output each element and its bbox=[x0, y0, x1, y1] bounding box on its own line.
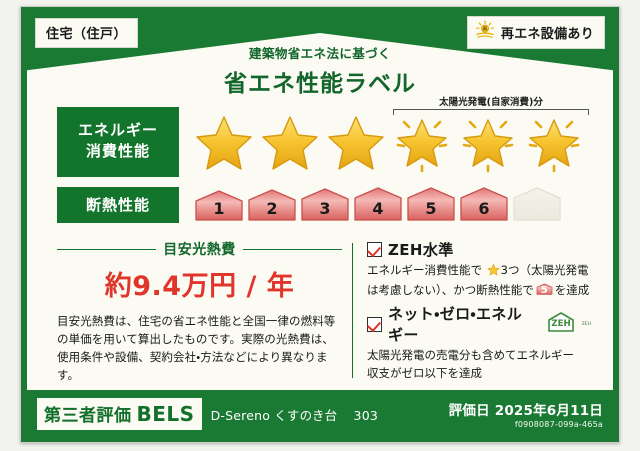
grade-number: 6 bbox=[458, 199, 510, 218]
zeh-standard-header: ZEH水準 bbox=[367, 239, 591, 260]
insulation-grade-tile: 3 bbox=[299, 187, 351, 223]
column-divider bbox=[352, 243, 353, 378]
title-main: 省エネ性能ラベル bbox=[21, 64, 619, 98]
heading-rule-left bbox=[57, 249, 156, 250]
star-filled bbox=[325, 111, 387, 173]
grade-number: 2 bbox=[246, 199, 298, 218]
bels-logo-text: BELS bbox=[137, 402, 195, 426]
energy-performance-row: エネルギー 消費性能 太陽光発電(自家消費)分 bbox=[57, 107, 591, 177]
svg-text:ZEH: ZEH bbox=[551, 319, 570, 329]
checkbox-checked-icon bbox=[367, 242, 382, 257]
building-name: D-Sereno くすのき台 303 bbox=[211, 405, 378, 424]
insulation-grade-tile: 2 bbox=[246, 187, 298, 223]
inline-grade-number: 5 bbox=[536, 284, 553, 297]
energy-performance-label: エネルギー 消費性能 bbox=[57, 107, 179, 177]
zeh-standard-description: エネルギー消費性能で 3つ（太陽光発電 は考慮しない）、かつ断熱性能で 5 を達… bbox=[367, 261, 591, 299]
certification-column: ZEH水準 エネルギー消費性能で 3つ（太陽光発電 は考慮しない）、かつ断熱性能… bbox=[363, 239, 591, 386]
insulation-grade-tile-inactive: 7 bbox=[511, 187, 563, 223]
inline-grade-badge: 5 bbox=[536, 282, 553, 297]
stars-container: 太陽光発電(自家消費)分 bbox=[193, 111, 591, 173]
energy-label-line1: エネルギー bbox=[57, 120, 179, 141]
grade-number: 1 bbox=[193, 199, 245, 218]
heading-rule-right bbox=[243, 249, 342, 250]
evaluation-info: 評価日 2025年6月11日 f0908087-099a-465a bbox=[449, 399, 603, 429]
star-filled-solar bbox=[391, 111, 453, 173]
unit-number: 303 bbox=[354, 408, 378, 423]
zeh-logo-icon: ZEH bbox=[546, 311, 576, 337]
checkbox-checked-icon bbox=[367, 317, 382, 332]
zeh-desc-part2: は考慮しない）、かつ断熱性能で bbox=[367, 283, 534, 297]
insulation-grade-tile: 6 bbox=[458, 187, 510, 223]
zeh-logo-caption: ZEH bbox=[582, 322, 591, 327]
energy-cost-column: 目安光熱費 約9.4万円 / 年 目安光熱費は、住宅の省エネ性能と全国一律の燃料… bbox=[57, 239, 342, 386]
net-zero-description: 太陽光発電の売電分も含めてエネルギー 収支がゼロ以下を達成 bbox=[367, 346, 591, 382]
zeh-desc-part3: を達成 bbox=[555, 283, 590, 297]
label-title-block: 建築物省エネ法に基づく 省エネ性能ラベル bbox=[21, 43, 619, 98]
grade-number: 5 bbox=[405, 199, 457, 218]
evaluation-code: f0908087-099a-465a bbox=[449, 420, 603, 429]
net-zero-desc-line1: 太陽光発電の売電分も含めてエネルギー bbox=[367, 348, 574, 362]
star-filled-solar bbox=[457, 111, 519, 173]
energy-label-line2: 消費性能 bbox=[57, 141, 179, 162]
energy-cost-value: 約9.4万円 / 年 bbox=[57, 264, 342, 303]
star-filled bbox=[193, 111, 255, 173]
insulation-performance-row: 断熱性能 bbox=[57, 177, 591, 223]
bels-japanese-label: 第三者評価 bbox=[44, 401, 132, 426]
insulation-grade-tile: 4 bbox=[352, 187, 404, 223]
insulation-grade-scale: 1 2 3 4 bbox=[193, 187, 563, 223]
lower-section: 目安光熱費 約9.4万円 / 年 目安光熱費は、住宅の省エネ性能と全国一律の燃料… bbox=[57, 239, 591, 386]
net-zero-title: ネット・ゼロ・エネルギー bbox=[388, 303, 537, 345]
dwelling-type-tag: 住宅（住戸） bbox=[35, 18, 138, 48]
building-name-text: D-Sereno くすのき台 bbox=[211, 408, 338, 423]
star-filled bbox=[259, 111, 321, 173]
net-zero-energy-item: ネット・ゼロ・エネルギー ZEH ZEH 太陽光発電の売電分も含めてエネルギー … bbox=[367, 303, 591, 382]
zeh-standard-title: ZEH水準 bbox=[388, 239, 454, 260]
svg-text:再: 再 bbox=[483, 25, 488, 32]
insulation-performance-label: 断熱性能 bbox=[57, 187, 179, 223]
grade-number: 7 bbox=[511, 199, 563, 218]
net-zero-header: ネット・ゼロ・エネルギー ZEH ZEH bbox=[367, 303, 591, 345]
energy-performance-label: 住宅（住戸） 再 再エネ設備あり 建築物省エネ法に基づく 省エネ性能ラベル bbox=[20, 6, 620, 443]
sun-icon: 再 bbox=[474, 20, 496, 44]
grade-number: 4 bbox=[352, 199, 404, 218]
bels-badge: 第三者評価 BELS bbox=[37, 398, 202, 430]
renewable-badge-label: 再エネ設備あり bbox=[501, 23, 594, 42]
zeh-desc-star-text: 3つ（太陽光発電 bbox=[501, 263, 589, 277]
energy-cost-heading-text: 目安光熱費 bbox=[163, 239, 236, 259]
energy-cost-note: 目安光熱費は、住宅の省エネ性能と全国一律の燃料等の単価を用いて算出したものです。… bbox=[57, 312, 342, 384]
star-filled-solar bbox=[523, 111, 585, 173]
footer-bar: 第三者評価 BELS D-Sereno くすのき台 303 評価日 2025年6… bbox=[27, 392, 613, 436]
inline-star-icon bbox=[483, 265, 500, 279]
insulation-grade-tile: 5 bbox=[405, 187, 457, 223]
solar-bracket-caption: 太陽光発電(自家消費)分 bbox=[393, 94, 589, 108]
star-rating bbox=[193, 111, 591, 173]
evaluation-date: 評価日 2025年6月11日 bbox=[449, 399, 603, 419]
grade-number: 3 bbox=[299, 199, 351, 218]
insulation-grade-tile: 1 bbox=[193, 187, 245, 223]
renewable-equipment-badge: 再 再エネ設備あり bbox=[467, 16, 605, 49]
zeh-standard-item: ZEH水準 エネルギー消費性能で 3つ（太陽光発電 は考慮しない）、かつ断熱性能… bbox=[367, 239, 591, 299]
net-zero-desc-line2: 収支がゼロ以下を達成 bbox=[367, 366, 482, 380]
zeh-desc-part1: エネルギー消費性能で bbox=[367, 263, 482, 277]
energy-cost-heading: 目安光熱費 bbox=[57, 239, 342, 259]
ratings-section: エネルギー 消費性能 太陽光発電(自家消費)分 bbox=[57, 107, 591, 223]
